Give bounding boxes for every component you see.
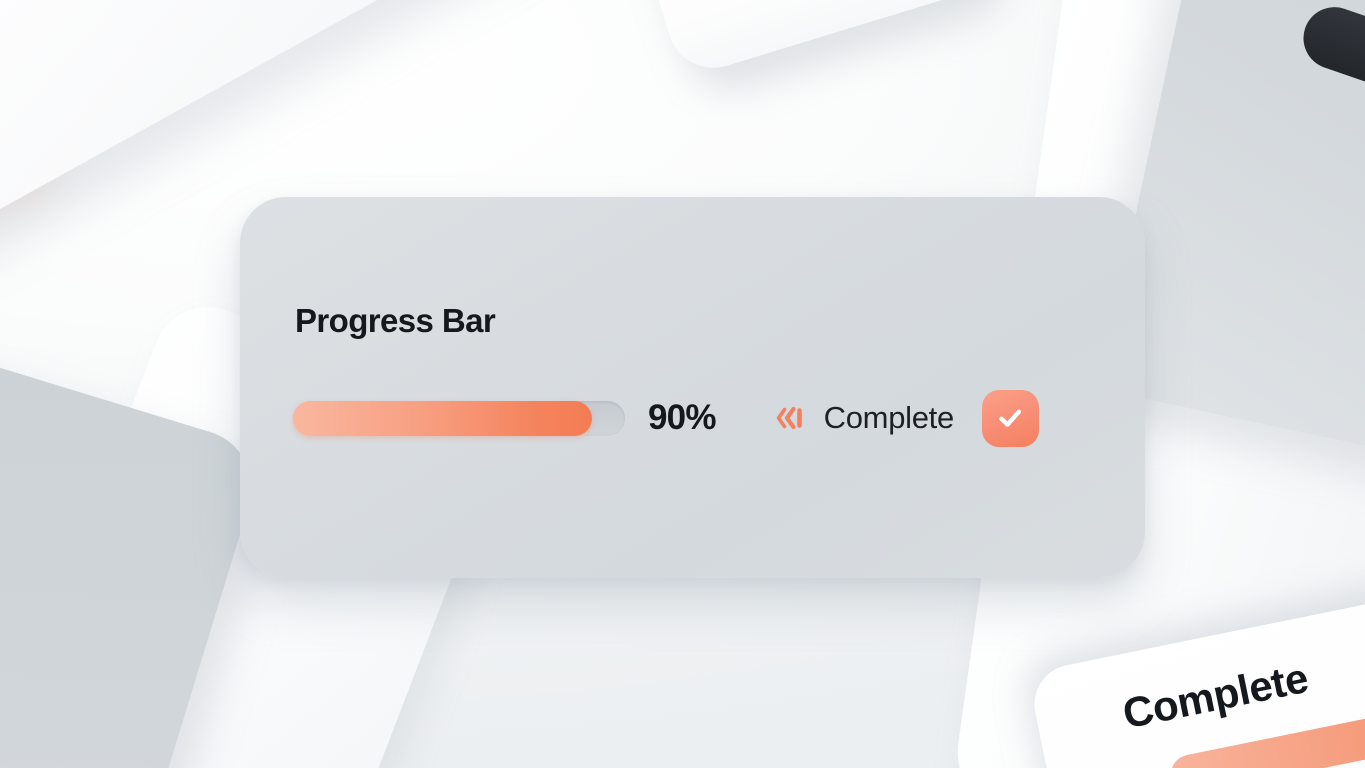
- status-label: Complete: [824, 400, 954, 436]
- rewind-icon[interactable]: [774, 404, 808, 432]
- progress-row: 90% Complete: [293, 383, 1113, 453]
- progress-card: Progress Bar 90% Complete: [240, 197, 1145, 578]
- confirm-check-button[interactable]: [982, 390, 1039, 447]
- check-icon: [994, 402, 1026, 434]
- progress-percent-label: 90%: [648, 398, 716, 438]
- page-title: Progress Bar: [295, 302, 495, 340]
- progress-bar-track[interactable]: [293, 401, 625, 436]
- decor-tile-top-center: [627, 0, 998, 79]
- decor-complete-label: Complete: [1119, 654, 1312, 738]
- status-group: Complete: [774, 390, 1039, 447]
- progress-bar-fill: [293, 401, 592, 436]
